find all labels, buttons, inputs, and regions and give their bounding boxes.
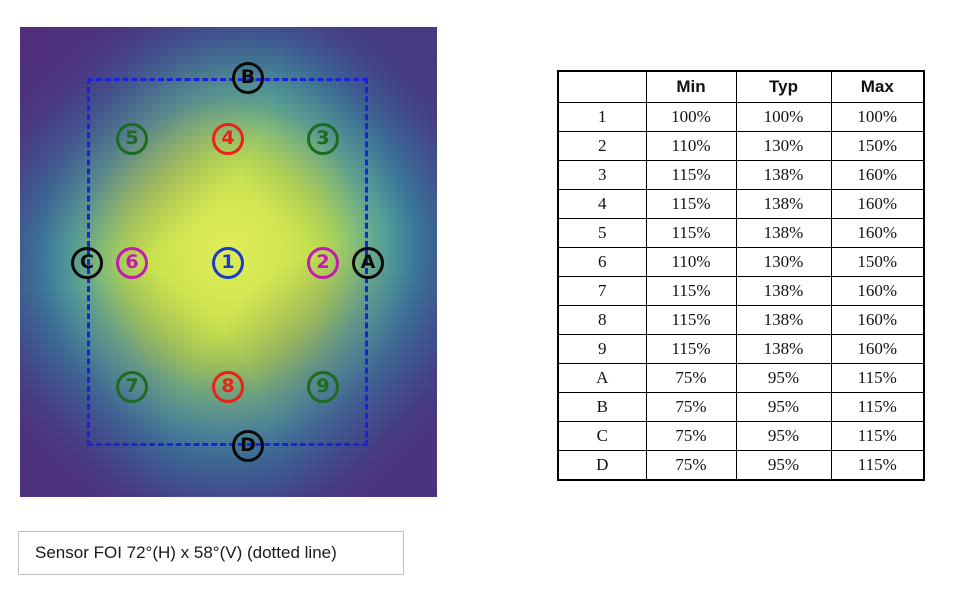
marker-8[interactable]: 8 — [212, 371, 244, 403]
table-row: 8115%138%160% — [558, 306, 924, 335]
cell-max: 115% — [831, 422, 924, 451]
cell-min: 115% — [646, 277, 736, 306]
cell-typ: 138% — [736, 161, 831, 190]
cell-min: 115% — [646, 190, 736, 219]
sensor-illumination-heatmap: B 5 4 3 C 6 1 2 A 7 8 9 D — [20, 27, 437, 497]
cell-min: 110% — [646, 248, 736, 277]
row-label: 9 — [558, 335, 646, 364]
cell-max: 150% — [831, 248, 924, 277]
table-row: C75%95%115% — [558, 422, 924, 451]
cell-max: 160% — [831, 219, 924, 248]
cell-typ: 138% — [736, 219, 831, 248]
cell-min: 115% — [646, 219, 736, 248]
cell-max: 160% — [831, 335, 924, 364]
cell-max: 100% — [831, 103, 924, 132]
illumination-spec-table: Min Typ Max 1100%100%100% 2110%130%150% … — [557, 70, 925, 481]
cell-typ: 95% — [736, 422, 831, 451]
table-row: 4115%138%160% — [558, 190, 924, 219]
table-row: 2110%130%150% — [558, 132, 924, 161]
cell-typ: 138% — [736, 190, 831, 219]
caption-box: Sensor FOI 72°(H) x 58°(V) (dotted line) — [18, 531, 404, 575]
cell-typ: 138% — [736, 277, 831, 306]
cell-max: 160% — [831, 306, 924, 335]
marker-5-label: 5 — [125, 129, 138, 148]
row-label: D — [558, 451, 646, 481]
marker-9-label: 9 — [316, 377, 329, 396]
marker-2-label: 2 — [316, 253, 329, 272]
marker-1-label: 1 — [221, 253, 234, 272]
row-label: B — [558, 393, 646, 422]
table-body: 1100%100%100% 2110%130%150% 3115%138%160… — [558, 103, 924, 481]
marker-B-label: B — [241, 68, 255, 87]
table-header-row: Min Typ Max — [558, 71, 924, 103]
row-label: 5 — [558, 219, 646, 248]
cell-typ: 130% — [736, 248, 831, 277]
marker-8-label: 8 — [221, 377, 234, 396]
cell-max: 160% — [831, 161, 924, 190]
row-label: 7 — [558, 277, 646, 306]
marker-6-label: 6 — [125, 253, 138, 272]
cell-max: 115% — [831, 393, 924, 422]
caption-text: Sensor FOI 72°(H) x 58°(V) (dotted line) — [19, 543, 337, 563]
marker-9[interactable]: 9 — [307, 371, 339, 403]
cell-max: 115% — [831, 364, 924, 393]
marker-2[interactable]: 2 — [307, 247, 339, 279]
marker-5[interactable]: 5 — [116, 123, 148, 155]
row-label: A — [558, 364, 646, 393]
table-row: 7115%138%160% — [558, 277, 924, 306]
marker-D-label: D — [240, 436, 256, 455]
column-header-max: Max — [831, 71, 924, 103]
marker-4-label: 4 — [221, 129, 234, 148]
marker-C[interactable]: C — [71, 247, 103, 279]
marker-A[interactable]: A — [352, 247, 384, 279]
marker-6[interactable]: 6 — [116, 247, 148, 279]
marker-7[interactable]: 7 — [116, 371, 148, 403]
table-row: A75%95%115% — [558, 364, 924, 393]
cell-typ: 95% — [736, 393, 831, 422]
row-label: 2 — [558, 132, 646, 161]
row-label: C — [558, 422, 646, 451]
table-row: 1100%100%100% — [558, 103, 924, 132]
cell-min: 75% — [646, 393, 736, 422]
marker-C-label: C — [80, 253, 94, 272]
table-row: D75%95%115% — [558, 451, 924, 481]
cell-max: 160% — [831, 190, 924, 219]
row-label: 3 — [558, 161, 646, 190]
cell-min: 75% — [646, 422, 736, 451]
row-label: 1 — [558, 103, 646, 132]
table-row: 3115%138%160% — [558, 161, 924, 190]
cell-min: 75% — [646, 364, 736, 393]
cell-max: 115% — [831, 451, 924, 481]
column-header-typ: Typ — [736, 71, 831, 103]
table-row: 9115%138%160% — [558, 335, 924, 364]
marker-B[interactable]: B — [232, 62, 264, 94]
marker-4[interactable]: 4 — [212, 123, 244, 155]
row-label: 4 — [558, 190, 646, 219]
cell-min: 110% — [646, 132, 736, 161]
cell-min: 75% — [646, 451, 736, 481]
marker-1[interactable]: 1 — [212, 247, 244, 279]
row-label: 8 — [558, 306, 646, 335]
column-header-min: Min — [646, 71, 736, 103]
marker-A-label: A — [361, 253, 376, 272]
table-row: 5115%138%160% — [558, 219, 924, 248]
cell-min: 115% — [646, 161, 736, 190]
table-row: 6110%130%150% — [558, 248, 924, 277]
marker-D[interactable]: D — [232, 430, 264, 462]
table-row: B75%95%115% — [558, 393, 924, 422]
cell-min: 115% — [646, 306, 736, 335]
cell-max: 160% — [831, 277, 924, 306]
row-label: 6 — [558, 248, 646, 277]
cell-typ: 138% — [736, 306, 831, 335]
marker-3-label: 3 — [316, 129, 329, 148]
cell-min: 115% — [646, 335, 736, 364]
cell-typ: 95% — [736, 451, 831, 481]
column-header-label — [558, 71, 646, 103]
cell-max: 150% — [831, 132, 924, 161]
cell-typ: 100% — [736, 103, 831, 132]
cell-typ: 95% — [736, 364, 831, 393]
marker-3[interactable]: 3 — [307, 123, 339, 155]
cell-min: 100% — [646, 103, 736, 132]
cell-typ: 130% — [736, 132, 831, 161]
cell-typ: 138% — [736, 335, 831, 364]
marker-7-label: 7 — [125, 377, 138, 396]
